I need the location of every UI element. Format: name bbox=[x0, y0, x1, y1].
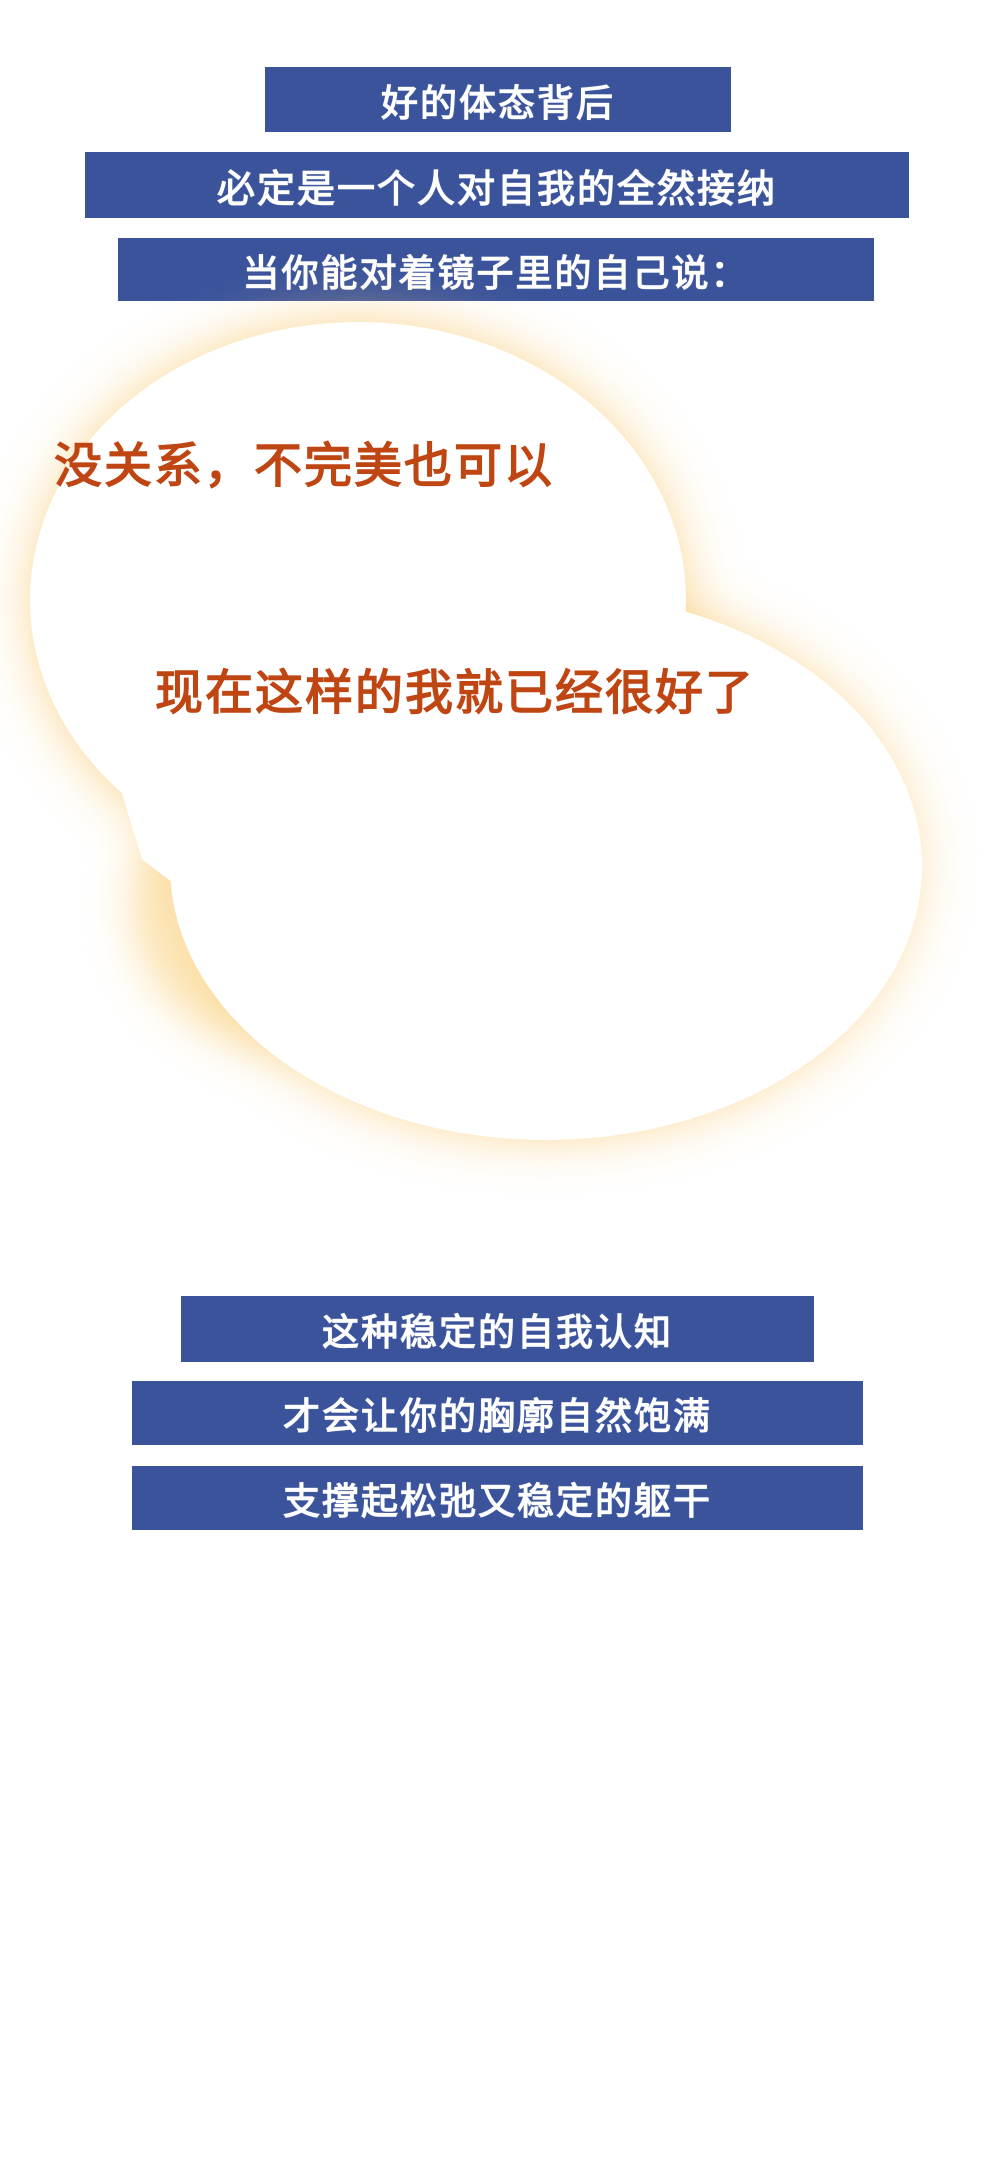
statement-bar-top-1: 好的体态背后 bbox=[265, 67, 731, 132]
footer-whitespace bbox=[0, 1560, 1000, 2160]
speech-bubble-group: 没关系，不完美也可以 现在这样的我就已经很好了 bbox=[0, 330, 1000, 1260]
poster-canvas: 好的体态背后 必定是一个人对自我的全然接纳 当你能对着镜子里的自己说： 没关系，… bbox=[0, 0, 1000, 2160]
statement-bar-top-3: 当你能对着镜子里的自己说： bbox=[118, 238, 874, 301]
statement-bar-top-2: 必定是一个人对自我的全然接纳 bbox=[85, 152, 909, 218]
statement-bar-bottom-2: 才会让你的胸廓自然饱满 bbox=[132, 1381, 863, 1445]
speech-bubble-text-1: 没关系，不完美也可以 bbox=[54, 426, 554, 496]
statement-bar-bottom-1: 这种稳定的自我认知 bbox=[181, 1296, 814, 1362]
statement-bar-bottom-3: 支撑起松弛又稳定的躯干 bbox=[132, 1466, 863, 1530]
speech-bubble-text-2: 现在这样的我就已经很好了 bbox=[155, 653, 755, 723]
